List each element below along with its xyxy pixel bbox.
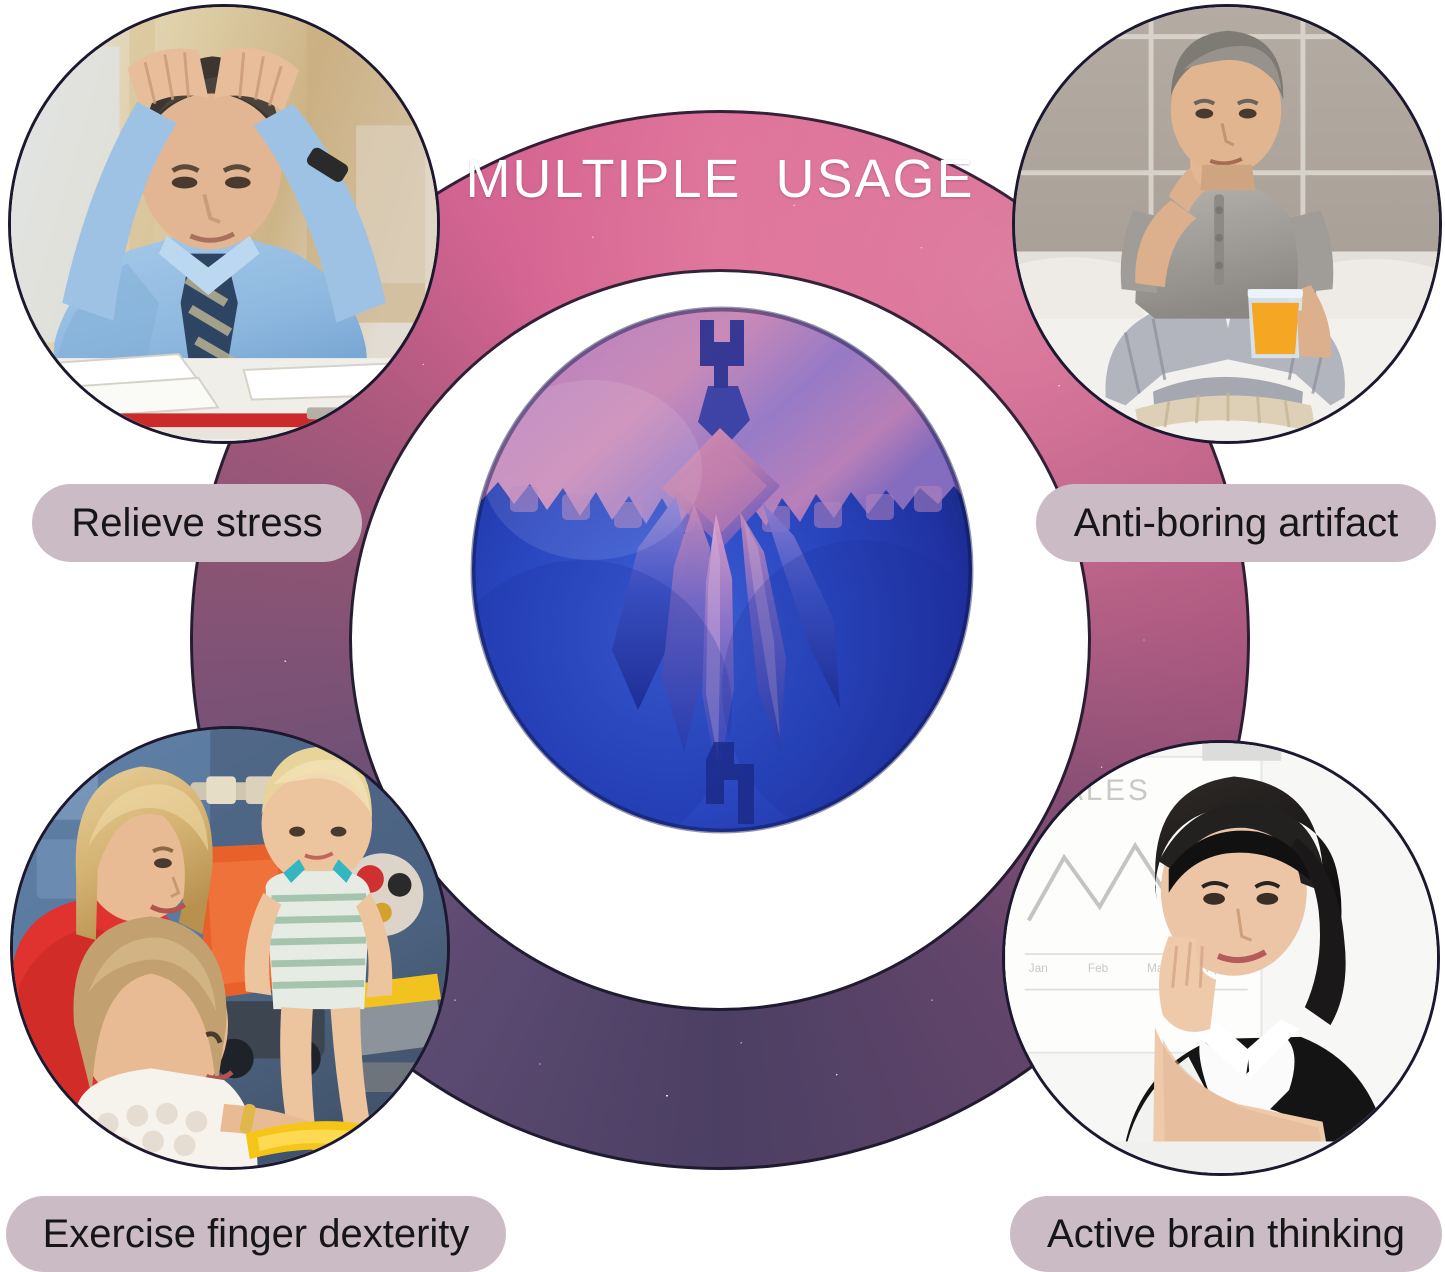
product-image-gear-ball [462,290,982,845]
benefit-label-anti-boring-artifact: Anti-boring artifact [1074,501,1399,546]
infographic-canvas: MULTIPLE USAGE [0,0,1445,1272]
benefit-pill-anti-boring-artifact[interactable]: Anti-boring artifact [1036,484,1436,562]
benefit-label-active-brain-thinking: Active brain thinking [1047,1212,1405,1257]
svg-text:Jan: Jan [1029,961,1048,975]
mother-and-children-playing-photo [10,726,450,1170]
benefit-label-relieve-stress: Relieve stress [71,501,322,546]
svg-text:Feb: Feb [1088,961,1109,975]
benefit-pill-relieve-stress[interactable]: Relieve stress [32,484,362,562]
stressed-businessman-photo [8,4,440,444]
bored-woman-at-desk-photo: SALES Jan Feb Mar Apr [1002,740,1440,1176]
bored-man-on-bed-photo [1012,4,1442,444]
benefit-pill-exercise-finger-dexterity[interactable]: Exercise finger dexterity [6,1196,506,1272]
benefit-pill-active-brain-thinking[interactable]: Active brain thinking [1010,1196,1442,1272]
benefit-label-exercise-finger-dexterity: Exercise finger dexterity [43,1212,470,1257]
